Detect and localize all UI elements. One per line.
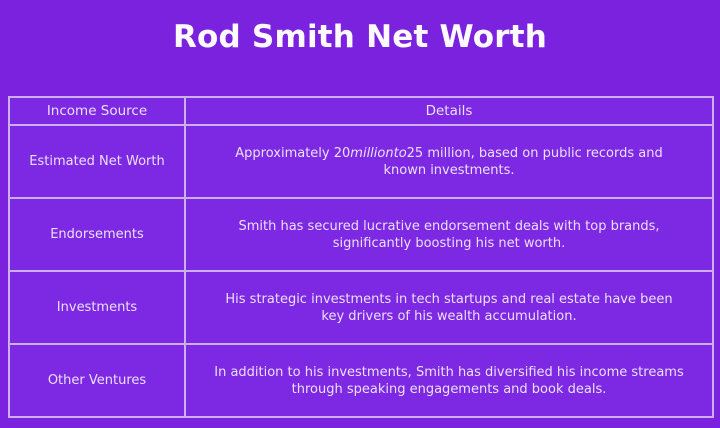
detail-text: Smith has secured lucrative endorsement … [214, 218, 684, 252]
table-row: Other Ventures In addition to his invest… [9, 344, 713, 417]
column-header-details: Details [185, 97, 713, 125]
net-worth-table-container: Income Source Details Estimated Net Wort… [8, 96, 712, 418]
row-details-endorsements: Smith has secured lucrative endorsement … [185, 198, 713, 271]
detail-text: In addition to his investments, Smith ha… [214, 364, 684, 398]
row-details-other-ventures: In addition to his investments, Smith ha… [185, 344, 713, 417]
row-label-estimated-net-worth: Estimated Net Worth [9, 125, 185, 198]
table-row: Estimated Net Worth Approximately 20mill… [9, 125, 713, 198]
detail-text-prefix: Approximately 20 [235, 146, 350, 161]
table-row: Endorsements Smith has secured lucrative… [9, 198, 713, 271]
column-header-income-source: Income Source [9, 97, 185, 125]
table-row: Investments His strategic investments in… [9, 271, 713, 344]
row-label-endorsements: Endorsements [9, 198, 185, 271]
table-body: Estimated Net Worth Approximately 20mill… [9, 125, 713, 417]
table-header-row: Income Source Details [9, 97, 713, 125]
detail-text-suffix: 25 million, based on public records and … [383, 146, 662, 178]
net-worth-page: Rod Smith Net Worth Income Source Detail… [0, 0, 720, 428]
row-label-other-ventures: Other Ventures [9, 344, 185, 417]
page-title: Rod Smith Net Worth [0, 18, 720, 56]
detail-text-math-italic: millionto [350, 146, 406, 161]
detail-text: His strategic investments in tech startu… [214, 291, 684, 325]
row-details-investments: His strategic investments in tech startu… [185, 271, 713, 344]
row-details-estimated-net-worth: Approximately 20millionto25 million, bas… [185, 125, 713, 198]
net-worth-table: Income Source Details Estimated Net Wort… [8, 96, 714, 418]
detail-text: Approximately 20millionto25 million, bas… [214, 145, 684, 179]
table-header: Income Source Details [9, 97, 713, 125]
row-label-investments: Investments [9, 271, 185, 344]
